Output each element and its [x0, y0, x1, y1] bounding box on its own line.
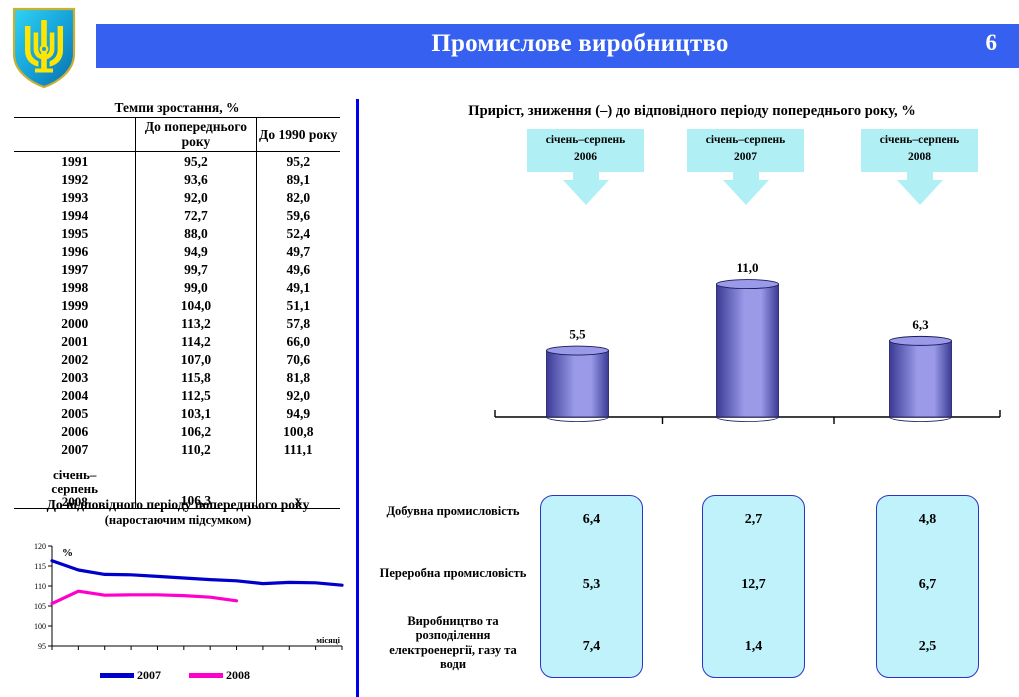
- page-title: Промислове виробництво: [270, 30, 890, 58]
- cell-prev-year: 106,2: [136, 422, 256, 440]
- cell-year: 2005: [14, 404, 136, 422]
- cell-1990: 51,1: [256, 296, 340, 314]
- legend-label-2008: 2008: [226, 668, 250, 683]
- sector-label-energy: Виробництво та розподілення електроенерг…: [378, 614, 528, 672]
- callout-period-label-1: січень–серпень: [706, 134, 786, 146]
- ukraine-coat-of-arms-icon: [10, 6, 78, 90]
- sector-label-manufacturing: Переробна промисловість: [378, 566, 528, 580]
- growth-rates-table: До попереднього року До 1990 року 199195…: [14, 117, 340, 509]
- arrow-down-icon: [723, 180, 769, 205]
- table-row: 1999104,051,1: [14, 296, 340, 314]
- panel-value-1-1: 12,7: [703, 577, 804, 593]
- table-row: 2001114,266,0: [14, 332, 340, 350]
- bar-chart: 5,511,06,3: [480, 250, 1010, 435]
- x-axis-label: місяці: [316, 635, 340, 645]
- y-axis-tick-label: 95: [38, 642, 46, 651]
- cell-prev-year: 113,2: [136, 314, 256, 332]
- table-row: 199899,049,1: [14, 278, 340, 296]
- callout-period-label-0: січень–серпень: [546, 134, 626, 146]
- cell-1990: 81,8: [256, 368, 340, 386]
- callout-box-2007: січень–серпень 2007: [687, 129, 804, 172]
- sector-values-panel-2008: 4,8 6,7 2,5: [876, 495, 979, 678]
- cell-prev-year: 104,0: [136, 296, 256, 314]
- table-row: 2004112,592,0: [14, 386, 340, 404]
- cell-year: 2002: [14, 350, 136, 368]
- cell-1990: 49,1: [256, 278, 340, 296]
- table-row: 199293,689,1: [14, 170, 340, 188]
- callout-box-2008: січень–серпень 2008: [861, 129, 978, 172]
- bar-1: [717, 280, 779, 422]
- cell-1990: 95,2: [256, 152, 340, 171]
- cell-prev-year: 72,7: [136, 206, 256, 224]
- callout-arrow-stem-1: [733, 172, 759, 180]
- line-chart-legend: 2007 2008: [100, 668, 250, 683]
- panel-value-0-1: 5,3: [541, 577, 642, 593]
- cell-prev-year: 99,7: [136, 260, 256, 278]
- legend-item-2008: 2008: [189, 668, 250, 683]
- panel-value-2-2: 2,5: [877, 639, 978, 655]
- cell-prev-year: 93,6: [136, 170, 256, 188]
- callout-arrow-stem-2: [907, 172, 933, 180]
- y-axis-label: %: [62, 547, 73, 559]
- bar-value-label-2: 6,3: [912, 317, 929, 332]
- callout-year-label-2: 2008: [908, 151, 931, 163]
- table-row: 2002107,070,6: [14, 350, 340, 368]
- cell-prev-year: 92,0: [136, 188, 256, 206]
- line-chart-title: До відповідного періоду попереднього рок…: [8, 498, 348, 528]
- table-row: 199588,052,4: [14, 224, 340, 242]
- line-series-2008: [52, 591, 237, 603]
- vertical-divider: [356, 99, 359, 697]
- cell-1990: 57,8: [256, 314, 340, 332]
- cell-1990: 52,4: [256, 224, 340, 242]
- panel-value-0-2: 7,4: [541, 639, 642, 655]
- panel-value-2-1: 6,7: [877, 577, 978, 593]
- bar-value-label-1: 11,0: [736, 260, 758, 275]
- callout-period-label-2: січень–серпень: [880, 134, 960, 146]
- callout-period-2007: січень–серпень 2007: [687, 129, 804, 205]
- y-axis-tick-label: 105: [34, 602, 46, 611]
- cell-1990: 59,6: [256, 206, 340, 224]
- panel-value-0-0: 6,4: [541, 512, 642, 528]
- panel-value-1-0: 2,7: [703, 512, 804, 528]
- cell-year: 1997: [14, 260, 136, 278]
- cell-1990: 89,1: [256, 170, 340, 188]
- bar-0: [547, 346, 609, 421]
- table-row: 2005103,194,9: [14, 404, 340, 422]
- table-row: 199799,749,6: [14, 260, 340, 278]
- column-header-prev-year: До попереднього року: [136, 118, 256, 152]
- cell-year: 1999: [14, 296, 136, 314]
- cell-prev-year: 115,8: [136, 368, 256, 386]
- cell-prev-year: 103,1: [136, 404, 256, 422]
- bar-2: [890, 336, 952, 421]
- legend-swatch-2008: [189, 673, 223, 678]
- cell-year: 2003: [14, 368, 136, 386]
- cell-1990: 92,0: [256, 386, 340, 404]
- page-number: 6: [986, 30, 998, 56]
- table-row: 2003115,881,8: [14, 368, 340, 386]
- table-row: 2006106,2100,8: [14, 422, 340, 440]
- cell-prev-year: 114,2: [136, 332, 256, 350]
- table-row: 2007110,2111,1: [14, 440, 340, 458]
- legend-label-2007: 2007: [137, 668, 161, 683]
- arrow-down-icon: [897, 180, 943, 205]
- cell-year: 2007: [14, 440, 136, 458]
- cell-prev-year: 107,0: [136, 350, 256, 368]
- callout-arrow-stem-0: [573, 172, 599, 180]
- cell-1990: 70,6: [256, 350, 340, 368]
- cell-year: 1996: [14, 242, 136, 260]
- cell-year: 1991: [14, 152, 136, 171]
- cell-year: 2004: [14, 386, 136, 404]
- cell-year: 1994: [14, 206, 136, 224]
- cell-1990: 100,8: [256, 422, 340, 440]
- arrow-down-icon: [563, 180, 609, 205]
- table-header-row: До попереднього року До 1990 року: [14, 118, 340, 152]
- cell-year: 1993: [14, 188, 136, 206]
- column-header-1990: До 1990 року: [256, 118, 340, 152]
- cell-year: 2000: [14, 314, 136, 332]
- table-caption: Темпи зростання, %: [14, 100, 340, 116]
- y-axis-tick-label: 120: [34, 542, 46, 551]
- legend-swatch-2007: [100, 673, 134, 678]
- cell-prev-year: 88,0: [136, 224, 256, 242]
- table-row: 199694,949,7: [14, 242, 340, 260]
- sector-label-mining: Добувна промисловість: [378, 504, 528, 518]
- cell-year: 1998: [14, 278, 136, 296]
- cell-year: 1995: [14, 224, 136, 242]
- table-row: 199472,759,6: [14, 206, 340, 224]
- cell-prev-year: 95,2: [136, 152, 256, 171]
- table-row: 199195,295,2: [14, 152, 340, 171]
- sector-values-panel-2007: 2,7 12,7 1,4: [702, 495, 805, 678]
- table-row: 2000113,257,8: [14, 314, 340, 332]
- cell-year: 2006: [14, 422, 136, 440]
- line-series-2007: [52, 561, 342, 585]
- panel-value-2-0: 4,8: [877, 512, 978, 528]
- cell-1990: 49,7: [256, 242, 340, 260]
- column-header-year: [14, 118, 136, 152]
- right-panel-heading: Приріст, зниження (–) до відповідного пе…: [372, 103, 1012, 120]
- y-axis-tick-label: 100: [34, 622, 46, 631]
- cell-prev-year: 99,0: [136, 278, 256, 296]
- cell-year: 1992: [14, 170, 136, 188]
- cell-1990: 66,0: [256, 332, 340, 350]
- cell-prev-year: 112,5: [136, 386, 256, 404]
- bar-value-label-0: 5,5: [569, 327, 586, 342]
- legend-item-2007: 2007: [100, 668, 161, 683]
- y-axis-tick-label: 115: [34, 562, 46, 571]
- callout-box-2006: січень–серпень 2006: [527, 129, 644, 172]
- callout-period-2008: січень–серпень 2008: [861, 129, 978, 205]
- cell-prev-year: 110,2: [136, 440, 256, 458]
- line-chart-title-main: До відповідного періоду попереднього рок…: [47, 497, 310, 512]
- sector-values-panel-2006: 6,4 5,3 7,4: [540, 495, 643, 678]
- cell-1990: 111,1: [256, 440, 340, 458]
- cell-1990: 49,6: [256, 260, 340, 278]
- callout-year-label-1: 2007: [734, 151, 757, 163]
- callout-year-label-0: 2006: [574, 151, 597, 163]
- y-axis-tick-label: 110: [34, 582, 46, 591]
- callout-period-2006: січень–серпень 2006: [527, 129, 644, 205]
- cell-1990: 94,9: [256, 404, 340, 422]
- cell-year: 2001: [14, 332, 136, 350]
- cell-prev-year: 94,9: [136, 242, 256, 260]
- line-chart: 95100105110115120%місяці: [4, 534, 350, 666]
- panel-value-1-2: 1,4: [703, 639, 804, 655]
- line-chart-subtitle: (наростаючим підсумком): [105, 513, 252, 527]
- table-row: 199392,082,0: [14, 188, 340, 206]
- cell-1990: 82,0: [256, 188, 340, 206]
